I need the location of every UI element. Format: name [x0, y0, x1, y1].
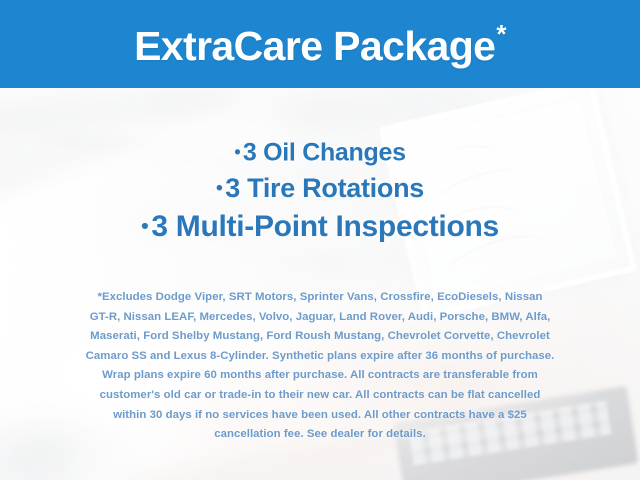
- page-title-text: ExtraCare Package: [134, 23, 495, 69]
- list-item: •3 Oil Changes: [0, 135, 640, 170]
- offer-list: •3 Oil Changes •3 Tire Rotations •3 Mult…: [0, 135, 640, 247]
- disclaimer-text: *Excludes Dodge Viper, SRT Motors, Sprin…: [26, 288, 614, 445]
- bullet-dot-icon: •: [141, 213, 148, 238]
- page-title: ExtraCare Package*: [134, 21, 506, 67]
- list-item-label: 3 Multi-Point Inspections: [151, 210, 499, 243]
- disclaimer-line: cancellation fee. See dealer for details…: [26, 425, 614, 445]
- bullet-dot-icon: •: [234, 142, 240, 162]
- list-item-label: 3 Oil Changes: [243, 139, 406, 167]
- disclaimer-line: *Excludes Dodge Viper, SRT Motors, Sprin…: [26, 288, 614, 308]
- header-bar: ExtraCare Package*: [0, 0, 640, 88]
- disclaimer-line: Wrap plans expire 60 months after purcha…: [26, 366, 614, 386]
- list-item-label: 3 Tire Rotations: [225, 173, 424, 203]
- bullet-dot-icon: •: [216, 177, 223, 199]
- disclaimer-line: Maserati, Ford Shelby Mustang, Ford Rous…: [26, 327, 614, 347]
- extracare-package-ad: ExtraCare Package* •3 Oil Changes •3 Tir…: [0, 0, 640, 480]
- asterisk-marker: *: [496, 19, 506, 49]
- disclaimer-line: GT-R, Nissan LEAF, Mercedes, Volvo, Jagu…: [26, 308, 614, 328]
- disclaimer-line: customer's old car or trade-in to their …: [26, 386, 614, 406]
- disclaimer-line: within 30 days if no services have been …: [26, 406, 614, 426]
- list-item: •3 Multi-Point Inspections: [0, 206, 640, 247]
- list-item: •3 Tire Rotations: [0, 170, 640, 206]
- disclaimer-line: Camaro SS and Lexus 8-Cylinder. Syntheti…: [26, 347, 614, 367]
